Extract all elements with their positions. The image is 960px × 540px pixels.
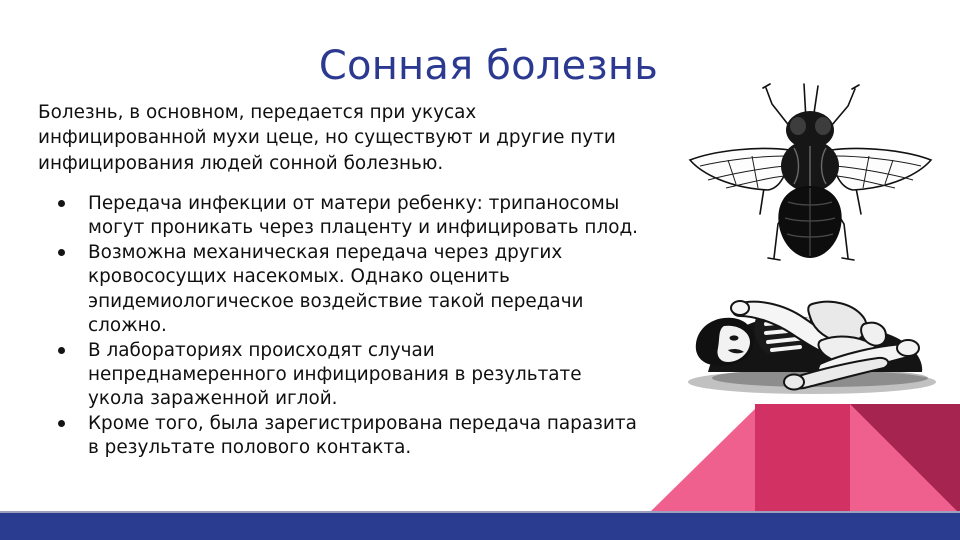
presentation-slide: Сонная болезнь Болезнь, в основном, пере…: [0, 0, 960, 540]
list-item: Передача инфекции от матери ребенку: три…: [38, 192, 638, 241]
list-item: В лабораториях происходят случаи непредн…: [38, 339, 638, 412]
intro-paragraph: Болезнь, в основном, передается при укус…: [38, 100, 623, 176]
list-item-text: Кроме того, была зарегистрирована переда…: [88, 413, 637, 458]
bullet-list: Передача инфекции от матери ребенку: три…: [38, 192, 638, 461]
footer-bar: [0, 513, 960, 540]
bullet-dot-icon: [58, 249, 65, 256]
list-item-text: В лабораториях происходят случаи непредн…: [88, 340, 582, 410]
sleeping-patient-illustration: [672, 278, 952, 398]
page-title: Сонная болезнь: [38, 44, 658, 88]
bullet-dot-icon: [58, 200, 65, 207]
decoration-mid-pink-block: [755, 404, 850, 514]
list-item: Возможна механическая передача через дру…: [38, 241, 638, 338]
bullet-dot-icon: [58, 347, 65, 354]
list-item-text: Возможна механическая передача через дру…: [88, 242, 584, 336]
list-item-text: Передача инфекции от матери ребенку: три…: [88, 193, 638, 238]
list-item: Кроме того, была зарегистрирована переда…: [38, 412, 638, 461]
bullet-dot-icon: [58, 420, 65, 427]
tsetse-fly-illustration: [668, 62, 953, 267]
